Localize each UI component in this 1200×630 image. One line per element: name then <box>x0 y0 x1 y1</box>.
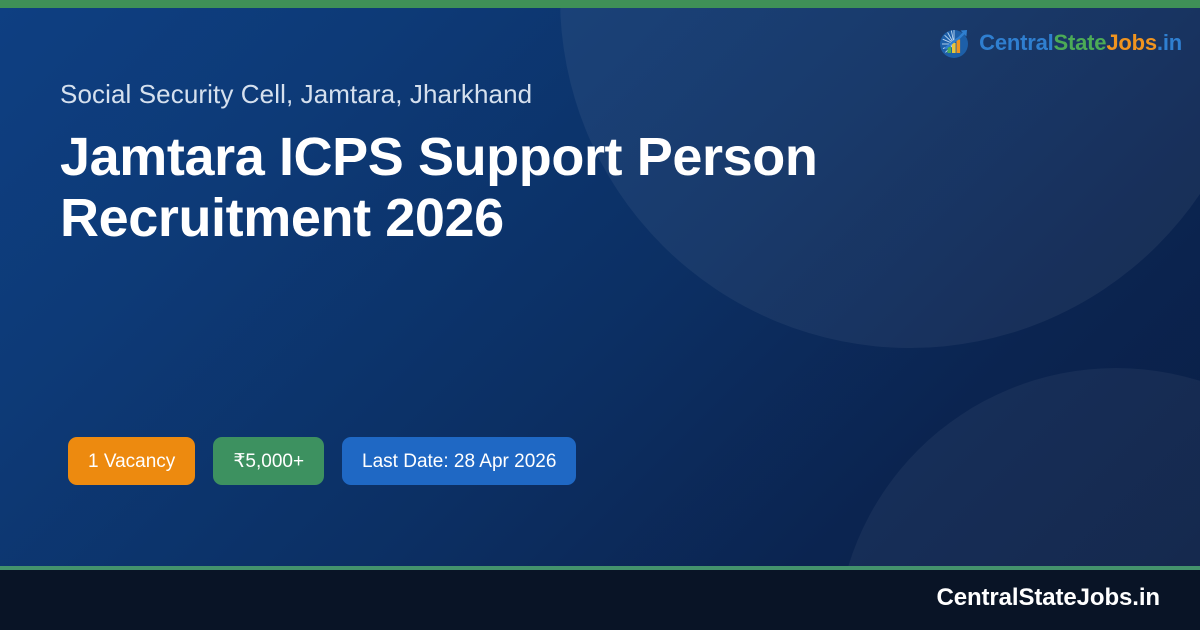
logo-word-state: State <box>1054 30 1107 55</box>
logo-word-central: Central <box>979 30 1053 55</box>
site-logo-text: CentralStateJobs.in <box>979 32 1182 54</box>
logo-word-tld: .in <box>1157 30 1182 55</box>
status-badge-salary: ₹5,000+ <box>213 437 324 485</box>
footer-divider <box>0 566 1200 570</box>
site-logo[interactable]: CentralStateJobs.in <box>938 26 1182 60</box>
page-title: Jamtara ICPS Support Person Recruitment … <box>60 127 920 250</box>
organization-name: Social Security Cell, Jamtara, Jharkhand <box>60 78 920 111</box>
chart-arrow-circle-icon <box>938 26 972 60</box>
badge-group: 1 Vacancy ₹5,000+ Last Date: 28 Apr 2026 <box>68 437 576 485</box>
banner-content: Social Security Cell, Jamtara, Jharkhand… <box>60 78 920 250</box>
status-badge-last-date: Last Date: 28 Apr 2026 <box>342 437 576 485</box>
top-accent-bar <box>0 0 1200 8</box>
footer-brand-text: CentralStateJobs.in <box>937 586 1161 610</box>
logo-word-jobs: Jobs <box>1106 30 1157 55</box>
status-badge-vacancy: 1 Vacancy <box>68 437 195 485</box>
job-banner: CentralStateJobs.in Social Security Cell… <box>0 0 1200 630</box>
